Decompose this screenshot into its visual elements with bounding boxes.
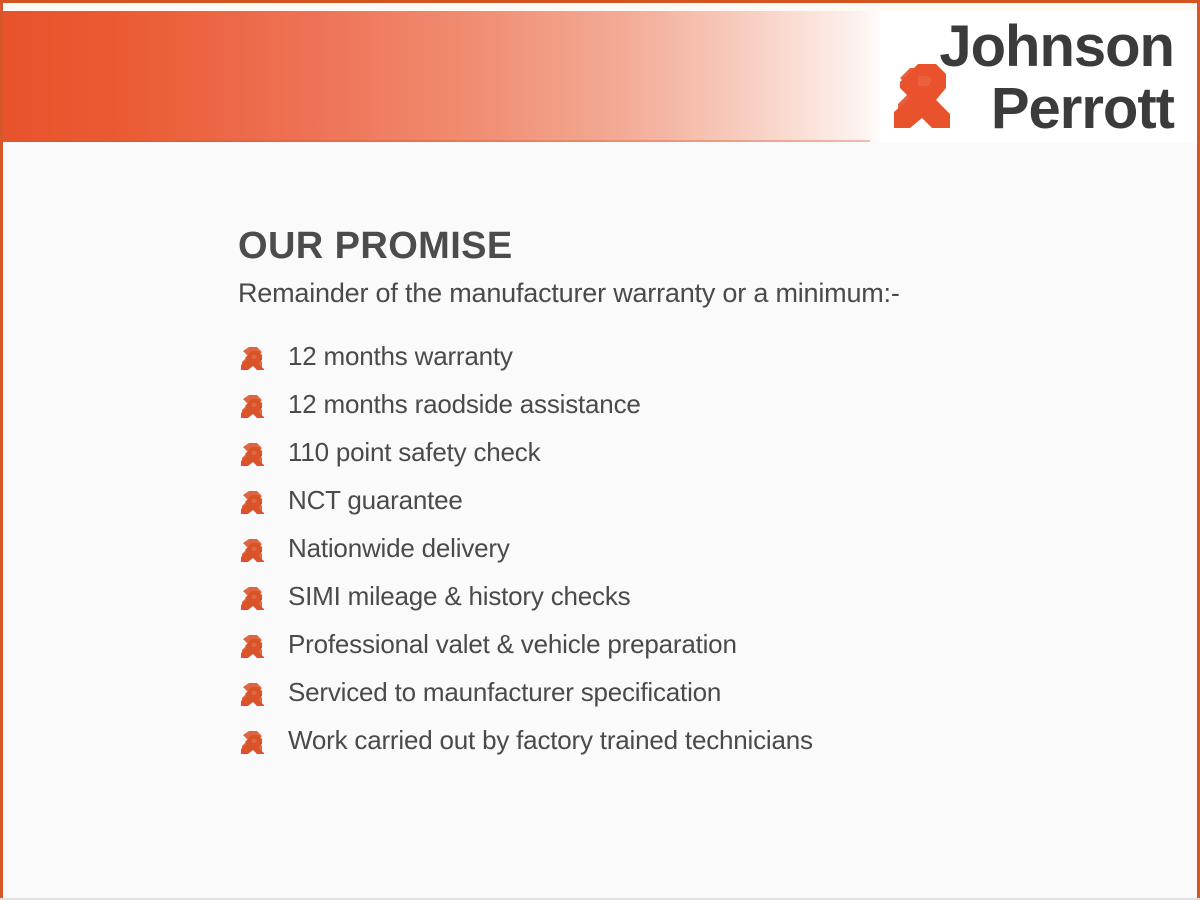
list-item-label: 12 months warranty: [288, 341, 513, 371]
list-item: 12 months warranty: [238, 332, 1168, 380]
list-item-label: Serviced to maunfacturer specification: [288, 677, 721, 707]
ampersand-bullet-icon: [238, 725, 268, 755]
list-item-label: Nationwide delivery: [288, 533, 510, 563]
list-item-label: NCT guarantee: [288, 485, 463, 515]
list-item-label: 110 point safety check: [288, 437, 540, 467]
ampersand-bullet-icon: [238, 677, 268, 707]
logo-wordmark-johnson: Johnson: [939, 14, 1174, 79]
ampersand-bullet-icon: [238, 389, 268, 419]
svg-text:Perrott: Perrott: [991, 76, 1175, 138]
logo-ampersand-icon: [894, 64, 950, 128]
ampersand-bullet-icon: [238, 629, 268, 659]
list-item: SIMI mileage & history checks: [238, 572, 1168, 620]
promise-content: OUR PROMISE Remainder of the manufacture…: [238, 224, 1168, 764]
johnson-and-perrott-logo: Johnson Perrott: [888, 8, 1178, 138]
promise-subtitle: Remainder of the manufacturer warranty o…: [238, 276, 1168, 310]
ampersand-bullet-icon: [238, 581, 268, 611]
ampersand-bullet-icon: [238, 437, 268, 467]
svg-text:Johnson: Johnson: [939, 14, 1174, 79]
logo-wordmark-perrott: Perrott: [991, 76, 1175, 138]
list-item-label: SIMI mileage & history checks: [288, 581, 630, 611]
ampersand-bullet-icon: [238, 485, 268, 515]
list-item: 110 point safety check: [238, 428, 1168, 476]
list-item: 12 months raodside assistance: [238, 380, 1168, 428]
list-item-label: Professional valet & vehicle preparation: [288, 629, 737, 659]
list-item: Professional valet & vehicle preparation: [238, 620, 1168, 668]
slide-page: Johnson Perrott OUR PROMISE Remainder of…: [0, 0, 1200, 900]
list-item: Serviced to maunfacturer specification: [238, 668, 1168, 716]
ampersand-bullet-icon: [238, 533, 268, 563]
list-item-label: Work carried out by factory trained tech…: [288, 725, 813, 755]
page-title: OUR PROMISE: [238, 224, 1168, 268]
promise-list: 12 months warranty 12 months raodside as…: [238, 332, 1168, 764]
list-item-label: 12 months raodside assistance: [288, 389, 641, 419]
header-bottom-edge: [3, 140, 870, 142]
list-item: NCT guarantee: [238, 476, 1168, 524]
list-item: Nationwide delivery: [238, 524, 1168, 572]
ampersand-bullet-icon: [238, 341, 268, 371]
list-item: Work carried out by factory trained tech…: [238, 716, 1168, 764]
left-border-rule: [0, 0, 3, 900]
